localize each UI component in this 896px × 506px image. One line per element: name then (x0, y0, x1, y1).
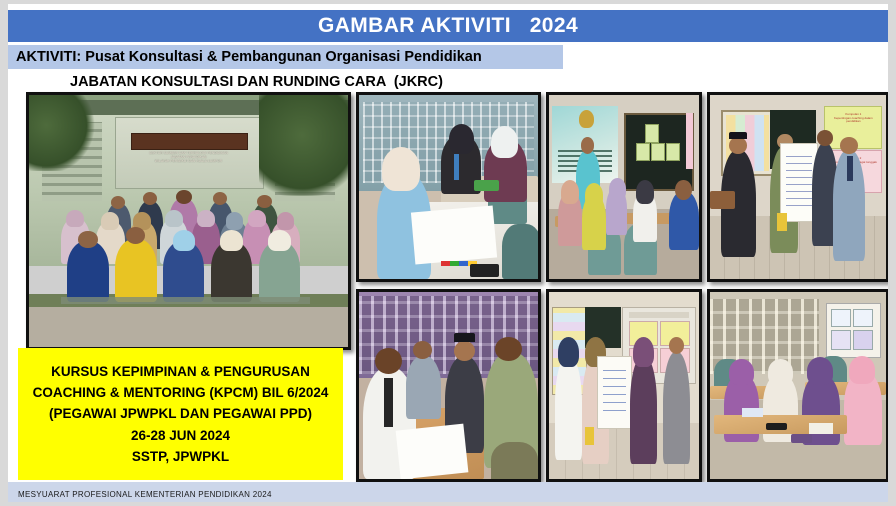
lanyard (454, 154, 459, 180)
caption-line-3: (PEGAWAI JPWPKL DAN PEGAWAI PPD) (49, 403, 312, 424)
slide-heading (629, 312, 689, 318)
building-sign-text: SEKTOR SUMBER DAN TEKNOLOGI PENDIDIKAN J… (112, 150, 265, 165)
head (111, 196, 126, 209)
photo-small-group-table (356, 92, 541, 282)
ground-paving (29, 307, 348, 347)
necktie (847, 156, 852, 182)
photo-discussion-scene (359, 292, 538, 479)
headscarf (382, 147, 420, 191)
headscarf (277, 212, 295, 230)
head (840, 137, 858, 154)
photo-group-scene: SEKTOR SUMBER DAN TEKNOLOGI PENDIDIKAN J… (29, 95, 348, 347)
headscarf (585, 183, 603, 207)
wall-notices (826, 303, 881, 357)
photo-group-discussion-men (356, 289, 541, 482)
headscarf (636, 180, 654, 204)
headscarf (491, 126, 518, 157)
activity-subtitle-text: AKTIVITI: Pusat Konsultasi & Pembangunan… (8, 49, 482, 65)
person-seated (115, 239, 156, 302)
headscarf (729, 359, 754, 385)
notice-sheet (831, 330, 851, 350)
photo-facilitator-briefing (546, 92, 702, 282)
photo-flipchart-scene (549, 292, 699, 479)
necktie (384, 378, 393, 427)
headscarf (558, 337, 579, 367)
head (176, 190, 192, 204)
waste-bin (585, 427, 594, 446)
caption-line-5: SSTP, JPWPKL (132, 446, 229, 467)
songkok-hat-icon (454, 333, 475, 342)
head (257, 195, 272, 208)
headscarf (248, 210, 266, 228)
notice-sheet (853, 330, 873, 350)
head (78, 231, 97, 248)
person-seated (67, 241, 108, 301)
building-signboard (131, 133, 248, 150)
headscarf (165, 210, 183, 228)
head (375, 348, 402, 374)
flipchart-paper (411, 206, 498, 264)
caption-line-2: COACHING & MENTORING (KPCM) BIL 6/2024 (33, 382, 329, 403)
headscarf (849, 356, 875, 384)
pencil-case (791, 434, 812, 443)
headscarf (101, 212, 119, 230)
photo-participants-classroom (707, 289, 888, 482)
person-standing (555, 356, 582, 461)
person-standing (663, 352, 690, 464)
head (495, 337, 522, 361)
side-desk (710, 191, 735, 209)
headscarf (66, 210, 84, 228)
slide-footer-band: MESYUARAT PROFESIONAL KEMENTERIAN PENDID… (8, 482, 888, 502)
photo-group-portrait: SEKTOR SUMBER DAN TEKNOLOGI PENDIDIKAN J… (26, 92, 351, 350)
sticky-card (666, 143, 680, 162)
head (581, 137, 595, 154)
headscarf (173, 230, 195, 251)
photo-classroom-scene (710, 292, 886, 479)
page-title: GAMBAR AKTIVITI 2024 (318, 14, 578, 38)
photo-present-scene: Kumpulan 1Kepentingan coaching dalam pen… (710, 95, 886, 279)
phone (470, 264, 499, 277)
headscarf (633, 337, 654, 367)
headscarf (449, 124, 474, 153)
notebook (742, 408, 763, 417)
flipchart-sheet (597, 356, 632, 429)
notice-sheet (831, 309, 851, 327)
head (675, 180, 692, 200)
department-heading: JABATAN KONSULTASI DAN RUNDING CARA (JKR… (70, 74, 443, 90)
headscarf (226, 212, 244, 230)
photo-flipchart-presentation-group (546, 289, 702, 482)
photo-meeting-scene (359, 95, 538, 279)
chair-row (61, 297, 310, 305)
headscarf (768, 359, 793, 385)
headscarf (807, 357, 833, 385)
person-seated (406, 356, 442, 420)
photo-flipchart-presentation-men: Kumpulan 1Kepentingan coaching dalam pen… (707, 92, 888, 282)
footer-text: MESYUARAT PROFESIONAL KEMENTERIAN PENDID… (8, 490, 272, 499)
sticky-card (636, 143, 650, 162)
chart-paper (396, 423, 469, 478)
activity-subtitle-band: AKTIVITI: Pusat Konsultasi & Pembangunan… (8, 45, 563, 69)
headscarf (268, 230, 290, 251)
notebook-2 (809, 423, 834, 434)
flipchart-diagram (603, 368, 627, 411)
flipchart-writing (786, 155, 813, 206)
sticky-card (651, 143, 665, 162)
head (817, 130, 833, 146)
pencil-case (474, 180, 499, 191)
wall-banner (686, 113, 694, 168)
caption-line-4: 26-28 JUN 2024 (131, 425, 230, 446)
sign-line-3: WILAYAH PERSEKUTUAN KUALA LUMPUR (155, 159, 222, 163)
course-caption-box: KURSUS KEPIMPINAN & PENGURUSAN COACHING … (18, 348, 343, 480)
photo-lecture-scene (549, 95, 699, 279)
crest-emblem-icon (579, 110, 594, 128)
tree-left (29, 95, 96, 171)
waste-bin (777, 213, 788, 231)
slide-title-bar: GAMBAR AKTIVITI 2024 (8, 10, 888, 42)
presentation-slide: GAMBAR AKTIVITI 2024 AKTIVITI: Pusat Kon… (8, 4, 888, 502)
chair (502, 224, 538, 279)
headscarf (197, 210, 215, 228)
tree-right (259, 95, 348, 196)
headscarf (220, 230, 242, 251)
caption-line-1: KURSUS KEPIMPINAN & PENGURUSAN (51, 361, 310, 382)
head (669, 337, 684, 354)
notice-sheet (853, 309, 873, 327)
songkok-hat-icon (729, 132, 747, 139)
chair (491, 442, 538, 479)
head (729, 137, 747, 154)
phone (766, 423, 787, 430)
projected-slide-top-text: Kumpulan 1Kepentingan coaching dalam pen… (829, 113, 879, 141)
headscarf (609, 178, 626, 200)
sticky-card (645, 124, 659, 143)
headscarf (561, 180, 579, 204)
person-standing (630, 356, 657, 464)
